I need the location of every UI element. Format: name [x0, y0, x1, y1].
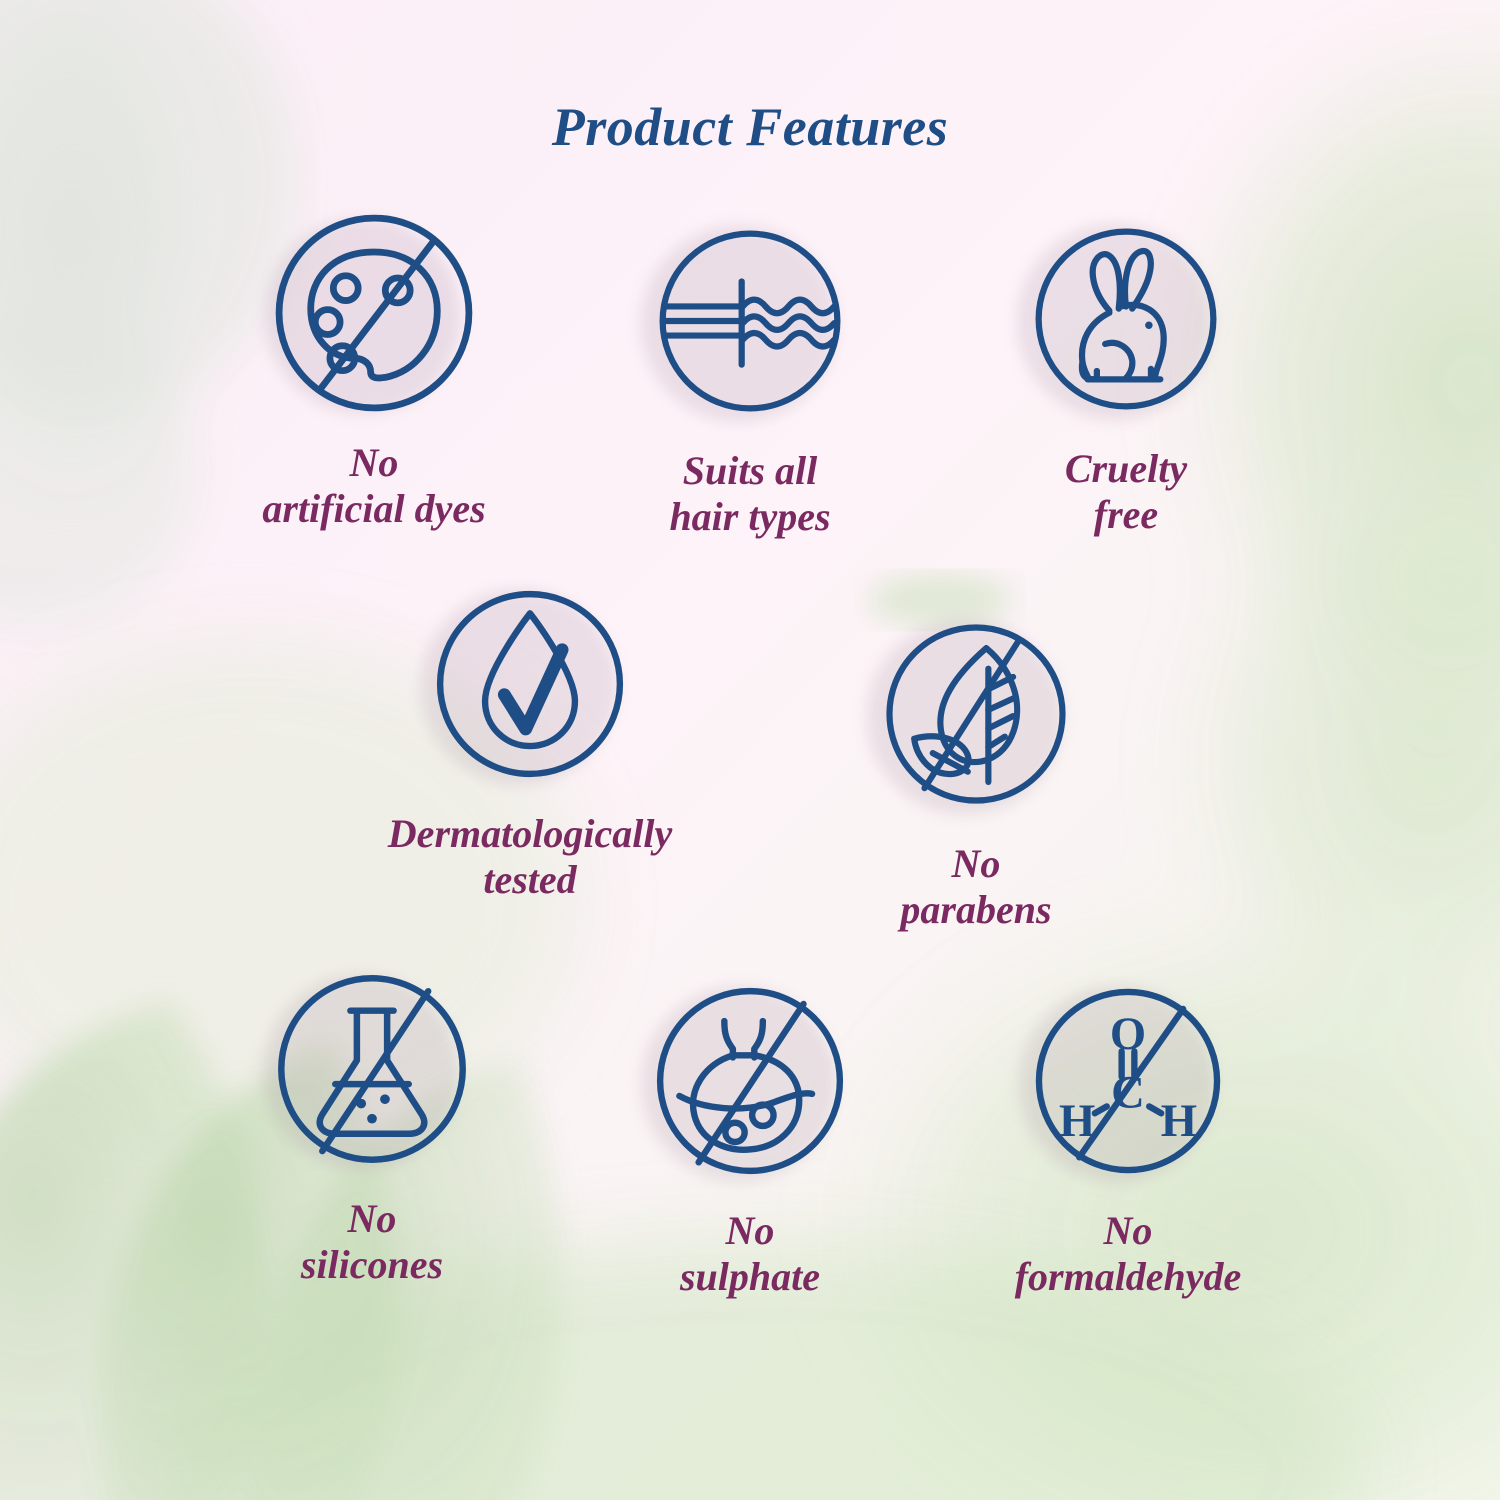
- feature-label: No formaldehyde: [1015, 1208, 1242, 1299]
- leaf-crossed-icon: [873, 611, 1079, 817]
- atom-label-o: O: [1110, 1009, 1146, 1061]
- feature-item-no-parabens[interactable]: No parabens: [846, 601, 1106, 932]
- feature-item-no-silicones[interactable]: No silicones: [242, 956, 502, 1299]
- droplet-check-icon: [423, 577, 637, 791]
- page-title: Product Features: [552, 96, 949, 158]
- flask-crossed-icon: [264, 961, 480, 1177]
- product-features-infographic: Product Features: [0, 0, 1500, 1500]
- atom-label-h-right: H: [1161, 1095, 1197, 1147]
- rabbit-icon: [1022, 215, 1230, 423]
- icon-wrap: [863, 601, 1089, 827]
- bubbles-crossed-icon: [643, 974, 857, 1188]
- icon-wrap: [259, 956, 485, 1182]
- feature-row: No artificial dyes: [0, 200, 1500, 539]
- feature-label: No parabens: [900, 841, 1051, 932]
- feature-item-no-sulphate[interactable]: No sulphate: [620, 968, 880, 1299]
- feature-label: No artificial dyes: [262, 440, 485, 531]
- palette-crossed-icon: [261, 200, 487, 426]
- hair-types-icon: [646, 217, 854, 425]
- feature-item-suits-all-hair-types[interactable]: Suits all hair types: [620, 208, 880, 539]
- icon-wrap: O C H H: [1015, 968, 1241, 1194]
- feature-label: Suits all hair types: [669, 448, 830, 539]
- feature-item-cruelty-free[interactable]: Cruelty free: [996, 206, 1256, 539]
- icon-wrap: [637, 208, 863, 434]
- icon-wrap: [637, 968, 863, 1194]
- feature-item-dermatologically-tested[interactable]: Dermatologically tested: [400, 571, 660, 932]
- feature-label: Cruelty free: [1065, 446, 1187, 537]
- icon-wrap: [261, 200, 487, 426]
- icon-wrap: [417, 571, 643, 797]
- formaldehyde-molecule-crossed-icon: O C H H: [1022, 975, 1234, 1187]
- atom-label-h-left: H: [1059, 1095, 1095, 1147]
- feature-item-no-artificial-dyes[interactable]: No artificial dyes: [244, 200, 504, 539]
- atom-label-c: C: [1111, 1067, 1145, 1119]
- feature-item-no-formaldehyde[interactable]: O C H H No formaldehyde: [998, 968, 1258, 1299]
- feature-label: No sulphate: [680, 1208, 820, 1299]
- feature-label: Dermatologically tested: [388, 811, 672, 902]
- feature-row: No silicones: [0, 956, 1500, 1299]
- icon-wrap: [1013, 206, 1239, 432]
- feature-label: No silicones: [301, 1196, 443, 1287]
- feature-row: Dermatologically tested: [0, 567, 1500, 932]
- feature-grid: No artificial dyes: [0, 186, 1500, 1300]
